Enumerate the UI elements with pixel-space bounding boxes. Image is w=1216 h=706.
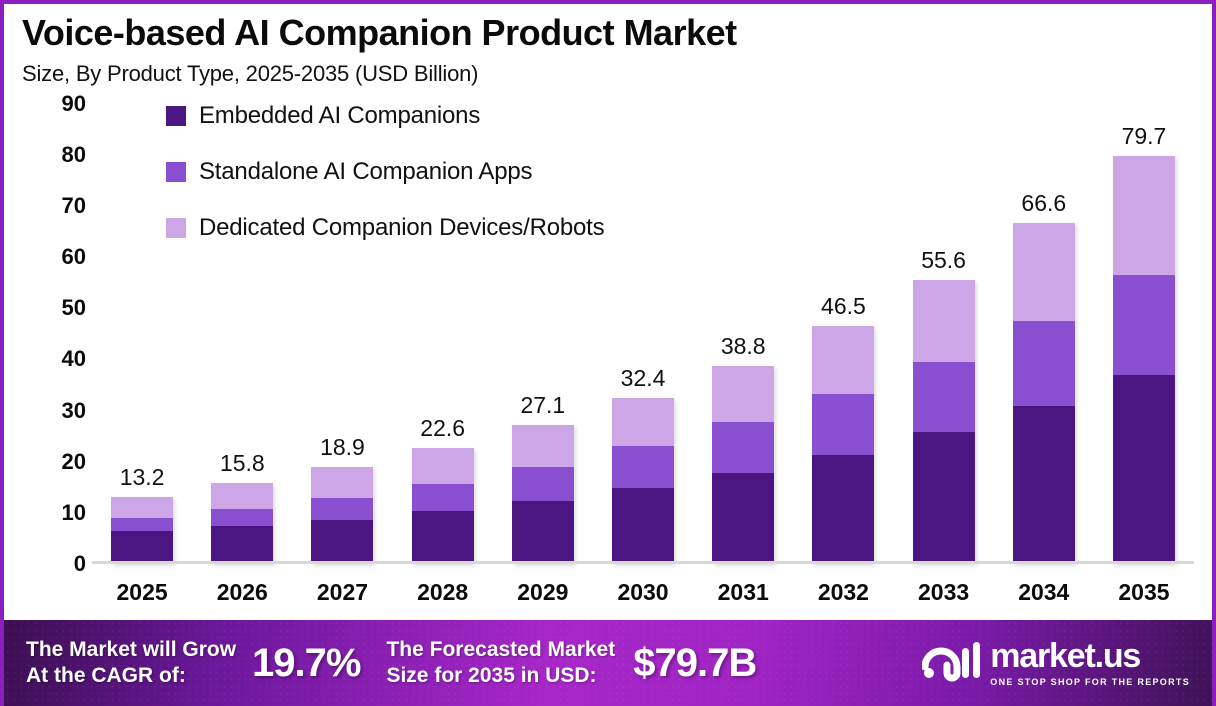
page-title: Voice-based AI Companion Product Market [22, 12, 1212, 53]
market-us-wordmark: market.us ONE STOP SHOP FOR THE REPORTS [990, 639, 1190, 687]
bar-segment[interactable] [712, 422, 774, 473]
legend-swatch-icon [166, 218, 186, 238]
bar-segment[interactable] [1013, 223, 1075, 321]
bar-slot[interactable]: 38.8 [693, 104, 793, 564]
bar-segment[interactable] [211, 483, 273, 509]
cagr-caption-line1: The Market will Grow [26, 637, 236, 663]
x-axis-line [92, 561, 1194, 564]
x-axis-label: 2028 [393, 579, 493, 606]
x-axis-label: 2027 [292, 579, 392, 606]
bar-slot[interactable]: 66.6 [994, 104, 1094, 564]
chart-legend: Embedded AI CompanionsStandalone AI Comp… [166, 102, 604, 242]
stacked-bar[interactable]: 38.8 [712, 366, 774, 564]
y-axis-tick: 40 [62, 346, 86, 372]
footer-banner: The Market will Grow At the CAGR of: 19.… [4, 620, 1212, 706]
y-axis-tick: 70 [62, 193, 86, 219]
stacked-bar[interactable]: 79.7 [1113, 156, 1175, 564]
forecast-caption: The Forecasted Market Size for 2035 in U… [386, 637, 615, 688]
bar-value-label: 38.8 [721, 333, 766, 360]
bar-segment[interactable] [812, 394, 874, 454]
x-axis-label: 2029 [493, 579, 593, 606]
bar-segment[interactable] [512, 467, 574, 501]
x-axis-label: 2034 [994, 579, 1094, 606]
bar-segment[interactable] [311, 520, 373, 564]
bar-segment[interactable] [211, 509, 273, 526]
bar-value-label: 22.6 [420, 415, 465, 442]
bar-value-label: 13.2 [120, 464, 165, 491]
bar-segment[interactable] [612, 446, 674, 488]
bar-segment[interactable] [412, 484, 474, 511]
legend-item-0[interactable]: Embedded AI Companions [166, 102, 604, 130]
bar-segment[interactable] [111, 497, 173, 518]
y-axis-tick: 20 [62, 449, 86, 475]
x-axis-label: 2025 [92, 579, 192, 606]
bar-segment[interactable] [311, 467, 373, 498]
legend-label: Dedicated Companion Devices/Robots [199, 214, 604, 242]
legend-item-1[interactable]: Standalone AI Companion Apps [166, 158, 604, 186]
bar-slot[interactable]: 79.7 [1094, 104, 1194, 564]
bar-segment[interactable] [812, 455, 874, 564]
stacked-bar[interactable]: 18.9 [311, 467, 373, 564]
bar-segment[interactable] [712, 366, 774, 422]
bar-segment[interactable] [1113, 275, 1175, 375]
stacked-bar[interactable]: 55.6 [913, 280, 975, 564]
bar-value-label: 79.7 [1122, 123, 1167, 150]
bar-segment[interactable] [1013, 321, 1075, 405]
stacked-bar[interactable]: 66.6 [1013, 223, 1075, 564]
bar-segment[interactable] [111, 518, 173, 531]
stacked-bar[interactable]: 22.6 [412, 448, 474, 564]
bar-segment[interactable] [913, 362, 975, 432]
bar-value-label: 66.6 [1021, 190, 1066, 217]
bar-slot[interactable]: 32.4 [593, 104, 693, 564]
bar-segment[interactable] [1113, 156, 1175, 274]
y-axis-tick: 50 [62, 295, 86, 321]
stacked-bar[interactable]: 13.2 [111, 497, 173, 564]
x-axis-label: 2031 [693, 579, 793, 606]
stacked-bar[interactable]: 32.4 [612, 398, 674, 564]
stacked-bar[interactable]: 46.5 [812, 326, 874, 564]
y-axis-tick: 80 [62, 142, 86, 168]
x-axis-labels: 2025202620272028202920302031203220332034… [92, 579, 1194, 606]
forecast-caption-line2: Size for 2035 in USD: [386, 663, 615, 689]
stacked-bar[interactable]: 15.8 [211, 483, 273, 564]
bar-value-label: 15.8 [220, 450, 265, 477]
cagr-caption: The Market will Grow At the CAGR of: [26, 637, 236, 688]
y-axis-tick: 30 [62, 398, 86, 424]
stacked-bar[interactable]: 27.1 [512, 425, 574, 564]
bar-slot[interactable]: 55.6 [894, 104, 994, 564]
logo-tagline: ONE STOP SHOP FOR THE REPORTS [990, 677, 1190, 687]
bar-segment[interactable] [412, 511, 474, 564]
x-axis-label: 2033 [894, 579, 994, 606]
bar-segment[interactable] [512, 425, 574, 467]
x-axis-label: 2030 [593, 579, 693, 606]
bar-segment[interactable] [812, 326, 874, 394]
forecast-value: $79.7B [633, 641, 756, 686]
bar-value-label: 55.6 [921, 247, 966, 274]
y-axis-tick: 90 [62, 91, 86, 117]
bar-value-label: 32.4 [621, 365, 666, 392]
legend-swatch-icon [166, 162, 186, 182]
legend-label: Embedded AI Companions [199, 102, 480, 130]
bar-segment[interactable] [913, 432, 975, 564]
bar-segment[interactable] [512, 501, 574, 564]
logo-name: market.us [990, 639, 1190, 673]
bar-segment[interactable] [412, 448, 474, 484]
y-axis: 0102030405060708090 [32, 104, 90, 564]
bar-segment[interactable] [1013, 406, 1075, 565]
bar-segment[interactable] [612, 488, 674, 564]
x-axis-label: 2026 [192, 579, 292, 606]
bar-segment[interactable] [913, 280, 975, 362]
chart-card: Voice-based AI Companion Product Market … [0, 0, 1216, 706]
bar-segment[interactable] [712, 473, 774, 564]
chart-subtitle: Size, By Product Type, 2025-2035 (USD Bi… [22, 61, 1212, 87]
x-axis-label: 2035 [1094, 579, 1194, 606]
forecast-caption-line1: The Forecasted Market [386, 637, 615, 663]
chart-header: Voice-based AI Companion Product Market … [4, 4, 1212, 88]
legend-swatch-icon [166, 106, 186, 126]
bar-segment[interactable] [1113, 375, 1175, 564]
market-us-logo[interactable]: market.us ONE STOP SHOP FOR THE REPORTS [922, 639, 1190, 687]
legend-label: Standalone AI Companion Apps [199, 158, 532, 186]
bar-slot[interactable]: 46.5 [793, 104, 893, 564]
y-axis-tick: 60 [62, 244, 86, 270]
y-axis-tick: 10 [62, 500, 86, 526]
bar-value-label: 46.5 [821, 293, 866, 320]
x-axis-label: 2032 [793, 579, 893, 606]
bar-segment[interactable] [111, 531, 173, 564]
cagr-caption-line2: At the CAGR of: [26, 663, 236, 689]
bar-value-label: 18.9 [320, 434, 365, 461]
bar-segment[interactable] [612, 398, 674, 446]
market-us-mark-icon [922, 640, 980, 687]
bar-value-label: 27.1 [520, 392, 565, 419]
bar-segment[interactable] [311, 498, 373, 519]
bar-segment[interactable] [211, 526, 273, 564]
chart-plot-area: Embedded AI CompanionsStandalone AI Comp… [14, 94, 1202, 620]
y-axis-tick: 0 [74, 551, 86, 577]
legend-item-2[interactable]: Dedicated Companion Devices/Robots [166, 214, 604, 242]
cagr-value: 19.7% [252, 641, 360, 686]
